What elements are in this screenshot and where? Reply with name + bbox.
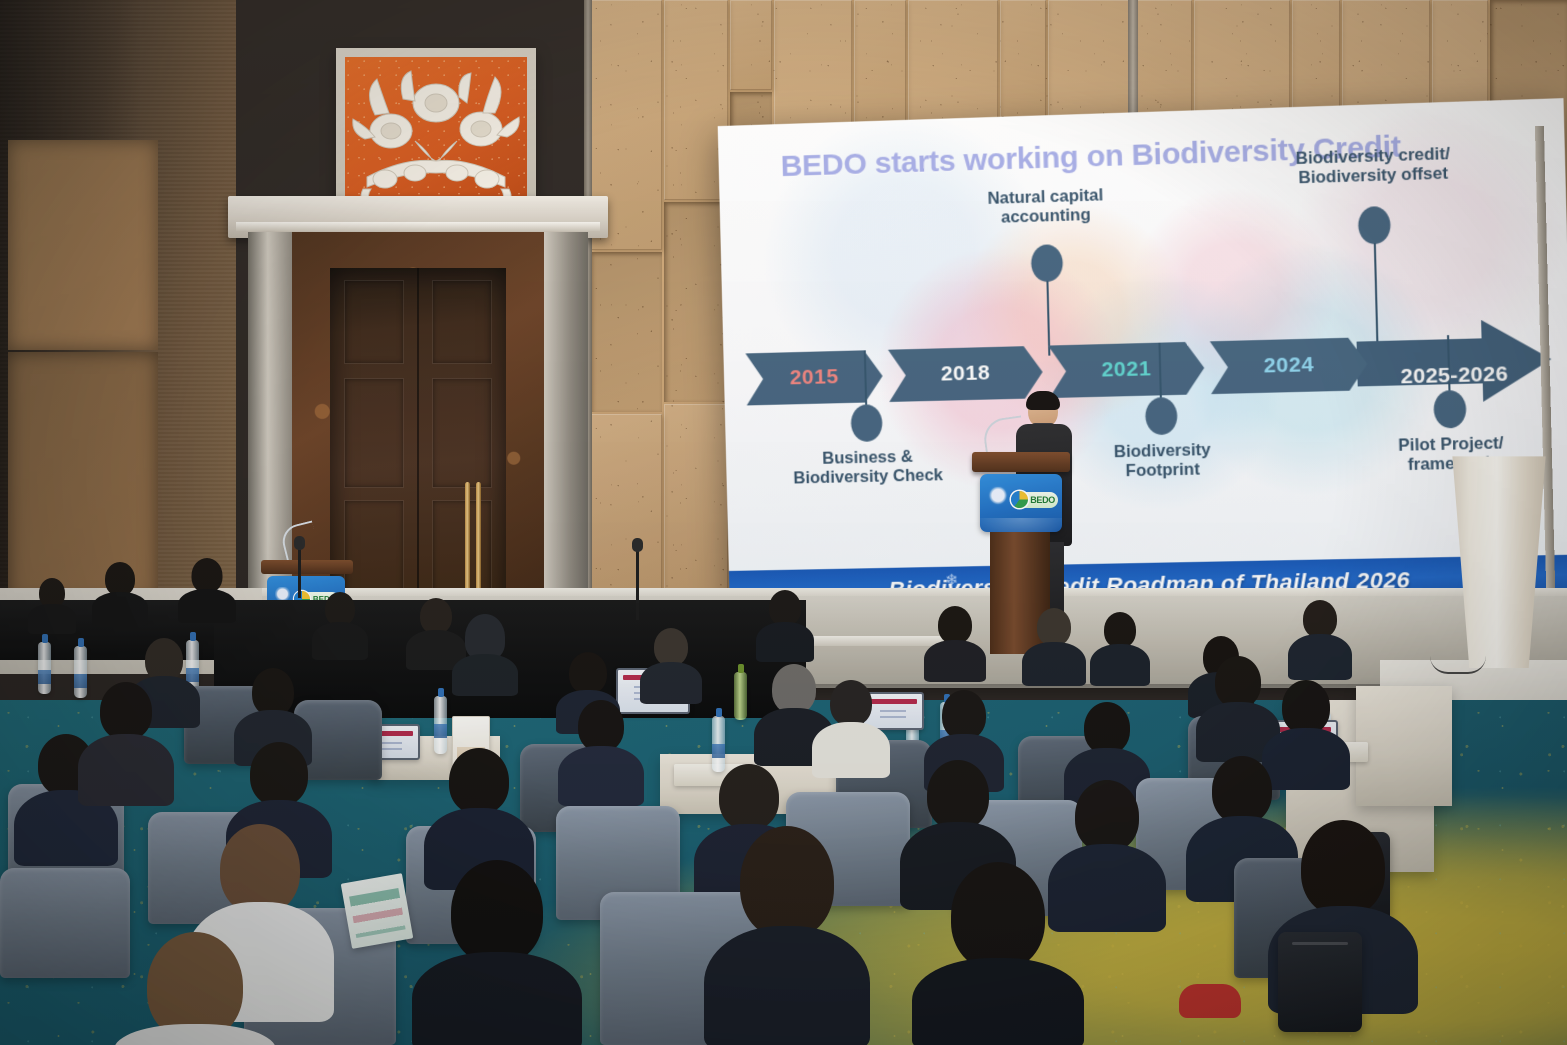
water-bottle [38, 642, 51, 694]
person-head [1282, 680, 1330, 734]
person-head [1303, 600, 1337, 638]
timeline-year-label: 2024 [1263, 353, 1314, 379]
person-shoulders [92, 592, 148, 626]
person-head [451, 860, 543, 964]
audience-person [312, 592, 368, 658]
person-head [951, 862, 1045, 970]
door-panel [344, 378, 404, 488]
timeline-node-label: Business & Biodiversity Check [793, 447, 944, 489]
person-shoulders [558, 746, 644, 806]
left-wall-panel-upper [8, 140, 158, 350]
timeline-year-label-2025-2026: 2025-2026 [1386, 348, 1523, 405]
timeline-segment-2021[interactable]: 2021 [1048, 342, 1205, 399]
audience-person [924, 606, 986, 680]
person-head [769, 590, 801, 626]
node-label-line1: Business & [822, 448, 913, 468]
person-head [1084, 702, 1130, 754]
podium-sign: BEDO [980, 474, 1062, 532]
timeline-segment-2015[interactable]: 2015 [745, 350, 883, 406]
audience-person [640, 628, 702, 702]
node-label-line1: Natural capital [987, 186, 1103, 208]
door-panel [344, 280, 404, 364]
audience-person [912, 862, 1084, 1045]
timeline-node-2018: Natural capital accounting [949, 185, 1147, 358]
node-label-line1: Biodiversity [1114, 441, 1211, 461]
person-head [449, 748, 509, 814]
person-head [927, 760, 989, 830]
person-head [100, 682, 152, 740]
bedo-logo: BEDO [1014, 492, 1058, 508]
audience-person [704, 826, 870, 1045]
doorway-pilaster-right [544, 232, 588, 622]
person-head [569, 652, 607, 694]
person-shoe [1179, 984, 1241, 1018]
person-shoulders [812, 722, 890, 778]
timeline-node-2024: Biodiversity credit/ Biodiversity offset [1254, 144, 1496, 351]
stone-recess [590, 252, 662, 412]
person-head [719, 764, 779, 830]
person-head [1215, 656, 1261, 708]
person-head [325, 592, 355, 626]
person-shoulders [924, 640, 986, 682]
podium-top [972, 452, 1070, 472]
audience-person-hijab [452, 614, 518, 692]
door-panel [432, 378, 492, 488]
timeline-node-2021: Biodiversity Footprint [1064, 395, 1262, 521]
person-shoulders [756, 622, 814, 662]
bag [1278, 932, 1362, 1032]
node-label-line2: Biodiversity Check [793, 466, 943, 487]
door-handle[interactable] [476, 482, 481, 600]
person-head [1075, 780, 1139, 852]
person-shoulders [1022, 642, 1086, 686]
node-label-line2: Footprint [1125, 461, 1200, 481]
audience-person [558, 700, 644, 804]
brochure[interactable] [341, 873, 414, 949]
node-label-line2: Biodiversity offset [1298, 164, 1448, 187]
person-head [1301, 820, 1385, 916]
staff-person [178, 558, 236, 620]
door-handle[interactable] [465, 482, 470, 600]
timeline-node-dot [1031, 244, 1064, 282]
timeline-segment-2024[interactable]: 2024 [1210, 337, 1368, 394]
staff-person [28, 578, 76, 632]
person-head [105, 562, 135, 596]
person-head [942, 690, 986, 740]
stone-block [1000, 0, 1046, 120]
audience-person [756, 590, 814, 660]
person-head [220, 824, 300, 914]
floral-relief-icon [345, 57, 527, 219]
person-head [740, 826, 834, 938]
timeline-node-stem [1374, 243, 1379, 347]
person-head [830, 680, 872, 726]
person-shoulders [312, 622, 368, 660]
audience-person [1022, 608, 1086, 684]
audience-person [1090, 612, 1150, 684]
podium-top [261, 560, 353, 574]
person-shoulders [412, 952, 582, 1045]
person-shoulders [114, 1024, 276, 1045]
wall-art-orange-panel [345, 57, 527, 219]
slide-canvas: BEDO starts working on Biodiversity Cred… [718, 98, 1567, 571]
person-shoulders [640, 662, 702, 704]
door-panel [432, 280, 492, 364]
person-head [1037, 608, 1071, 646]
side-table [1356, 686, 1452, 806]
person-head [250, 742, 308, 806]
timeline-node-label: Biodiversity Footprint [1114, 441, 1212, 482]
speaker-hair [1026, 391, 1060, 410]
stone-block [730, 0, 772, 90]
audience-chair[interactable] [0, 868, 130, 978]
person-shoulders [1288, 634, 1352, 680]
timeline-node-label: Natural capital accounting [987, 186, 1104, 228]
person-shoulders [704, 926, 870, 1045]
audience-person [1288, 600, 1352, 678]
audience-person [114, 932, 276, 1045]
audience-person [78, 682, 174, 802]
water-bottle [734, 672, 747, 720]
person-shoulders [28, 604, 76, 634]
timeline-node-dot [1358, 206, 1391, 245]
conference-photo-scene: BEDO starts working on Biodiversity Cred… [0, 0, 1567, 1045]
microphone-stand [298, 546, 301, 598]
person-shoulders [1090, 644, 1150, 686]
timeline-node-dot [1145, 397, 1178, 435]
person-shoulders [452, 654, 518, 696]
node-label-line2: accounting [1001, 206, 1091, 227]
staff-person [92, 562, 148, 622]
person-shoulders [78, 734, 174, 806]
timeline-node-dot [851, 404, 883, 442]
bedo-logo-text: BEDO [1030, 495, 1055, 505]
person-head [420, 598, 452, 634]
audience-person [412, 860, 582, 1045]
timeline-year-label: 2015 [789, 365, 839, 390]
person-head [1104, 612, 1136, 648]
person-head [654, 628, 688, 666]
person-head [192, 558, 223, 593]
garuda-emblem-icon [989, 487, 1007, 511]
audience-shoes [1150, 940, 1270, 1045]
person-head [252, 668, 294, 716]
audience-person [812, 680, 890, 776]
person-head [938, 606, 972, 644]
person-shoulders [912, 958, 1084, 1045]
person-head [1212, 756, 1272, 824]
stone-recess [664, 202, 728, 402]
timeline-year-label: 2021 [1101, 357, 1151, 383]
presentation-screen: BEDO starts working on Biodiversity Cred… [718, 98, 1567, 626]
node-label-line1: Pilot Project/ [1398, 434, 1504, 455]
person-head [772, 664, 816, 714]
person-shoulders [178, 589, 236, 623]
stone-block [854, 0, 906, 140]
timeline-node-stem [1046, 281, 1050, 356]
timeline-node-label: Biodiversity credit/ Biodiversity offset [1295, 145, 1450, 189]
person-head [578, 700, 624, 752]
microphone-stand [636, 548, 639, 620]
timeline-node-2015: Business & Biodiversity Check [751, 402, 986, 528]
timeline-year-label: 2018 [940, 361, 990, 386]
water-bottle [434, 696, 447, 754]
